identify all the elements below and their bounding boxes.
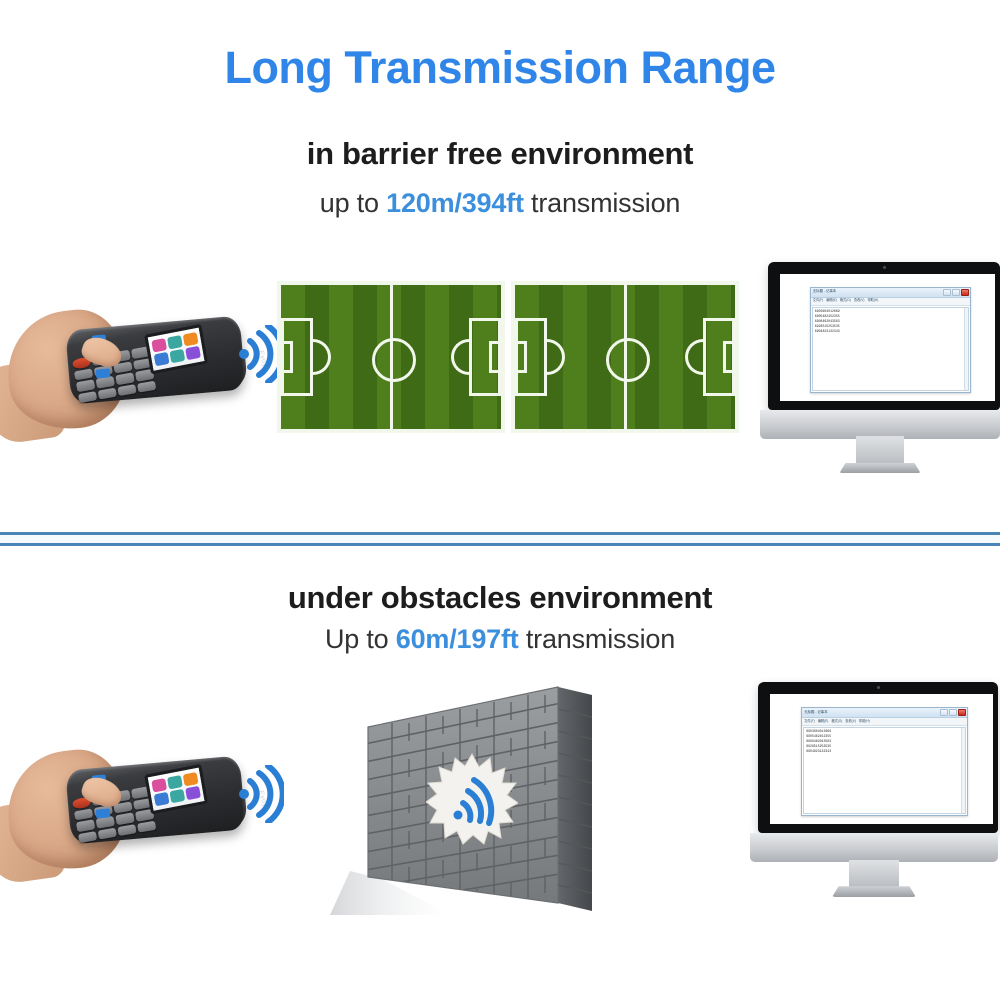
text-area[interactable]: 6903604012669 6905482452355 690846204356… [803, 727, 966, 813]
menu-item-view[interactable]: 查看(V) [845, 720, 856, 723]
app-icon-pink [151, 778, 167, 792]
monitor-foot [832, 886, 916, 897]
minimize-button[interactable] [940, 709, 948, 716]
goal-area-right [489, 341, 501, 373]
monitor-neck [856, 436, 904, 464]
goal-area-left [281, 341, 293, 373]
minimize-button[interactable] [943, 289, 951, 296]
divider-line-bottom [0, 543, 1000, 546]
desktop-monitor-top: 无标题 - 记事本 文件(F) 编辑(E) 格式(O) 查看(V) 帮助(H) [760, 262, 1000, 480]
menu-item-edit[interactable]: 编辑(E) [826, 299, 837, 302]
barrier-free-tagline: up to 120m/394ft transmission [0, 188, 1000, 219]
wifi-signal-icon-bottom [238, 765, 284, 828]
soccer-field-2 [511, 281, 739, 433]
goal-area-right [723, 341, 735, 373]
app-icon-teal [167, 775, 183, 789]
menu-item-help[interactable]: 帮助(H) [859, 720, 870, 723]
desktop-monitor-bottom: 无标题 - 记事本 文件(F) 编辑(E) 格式(O) 查看(V) 帮助(H) [750, 682, 998, 904]
app-icon-pink [151, 338, 167, 352]
signal-burst-icon [426, 753, 518, 845]
app-icon-blue [154, 792, 170, 806]
maximize-button[interactable] [949, 709, 957, 716]
scanned-code-line: 6903604012669 [815, 309, 967, 313]
penalty-arc-left [545, 339, 565, 375]
menu-bar[interactable]: 文件(F) 编辑(E) 格式(O) 查看(V) 帮助(H) [811, 298, 971, 306]
maximize-button[interactable] [952, 289, 960, 296]
menu-bar[interactable]: 文件(F) 编辑(E) 格式(O) 查看(V) 帮助(H) [802, 718, 967, 726]
menu-item-file[interactable]: 文件(F) [804, 720, 814, 723]
menu-item-edit[interactable]: 编辑(E) [818, 720, 829, 723]
infographic-page: Long Transmission Range in barrier free … [0, 0, 1000, 1000]
scanned-code-line: 6908462043563 [815, 319, 967, 323]
monitor-bezel: 无标题 - 记事本 文件(F) 编辑(E) 格式(O) 查看(V) 帮助(H) [758, 682, 998, 833]
obstacles-tagline-prefix: Up to [325, 624, 396, 654]
scanned-code-line: 6904823132343 [806, 749, 963, 753]
obstacles-subtitle: under obstacles environment [0, 580, 1000, 616]
obstacles-distance: 60m/197ft [396, 624, 519, 654]
scanned-code-line: 6904823132343 [815, 329, 967, 333]
center-circle [372, 338, 416, 382]
page-title: Long Transmission Range [0, 42, 1000, 94]
barrier-free-subtitle: in barrier free environment [0, 136, 1000, 172]
brick-wall [330, 665, 630, 930]
text-area[interactable]: 6903604012669 6905482452355 690846204356… [812, 307, 970, 392]
monitor-foot [839, 463, 921, 474]
app-icon-purple [185, 346, 201, 360]
side-tab-lower [96, 808, 111, 818]
scanned-code-line: 6928515253535 [815, 324, 967, 328]
scanned-code-line: 6905482452355 [806, 734, 963, 738]
center-circle [606, 338, 650, 382]
vertical-scrollbar[interactable] [964, 308, 968, 391]
menu-item-help[interactable]: 帮助(H) [867, 299, 878, 302]
window-title-bar[interactable]: 无标题 - 记事本 [811, 288, 971, 298]
barrier-free-tagline-prefix: up to [320, 188, 386, 218]
side-tab-lower [96, 368, 111, 378]
close-button[interactable] [958, 709, 966, 716]
penalty-arc-right [685, 339, 705, 375]
app-icon-orange [183, 332, 199, 346]
menu-item-file[interactable]: 文件(F) [813, 299, 823, 302]
app-icon-teal [167, 335, 183, 349]
monitor-neck [849, 860, 899, 889]
close-button[interactable] [961, 289, 969, 296]
soccer-fields [277, 281, 739, 433]
scanned-code-line: 6903604012669 [806, 729, 963, 733]
penalty-arc-left [311, 339, 331, 375]
divider-gap [0, 535, 1000, 543]
app-icon-purple [185, 786, 201, 800]
window-title: 无标题 - 记事本 [803, 711, 827, 714]
menu-item-format[interactable]: 格式(O) [831, 720, 842, 723]
obstacles-tagline: Up to 60m/197ft transmission [0, 624, 1000, 655]
webcam-icon [883, 266, 886, 269]
monitor-screen: 无标题 - 记事本 文件(F) 编辑(E) 格式(O) 查看(V) 帮助(H) [780, 274, 996, 402]
window-controls[interactable] [940, 709, 966, 716]
webcam-icon [877, 686, 880, 689]
obstacles-tagline-suffix: transmission [519, 624, 675, 654]
section-divider [0, 532, 1000, 546]
scanned-code-line: 6908462043563 [806, 739, 963, 743]
app-icon-teal-2 [169, 789, 185, 803]
monitor-chin [760, 410, 1000, 438]
soccer-field-1 [277, 281, 505, 433]
barrier-free-tagline-suffix: transmission [524, 188, 680, 218]
barrier-free-distance: 120m/394ft [386, 188, 524, 218]
monitor-bezel: 无标题 - 记事本 文件(F) 编辑(E) 格式(O) 查看(V) 帮助(H) [768, 262, 1000, 410]
scanned-code-line: 6928515253535 [806, 744, 963, 748]
app-icon-teal-2 [169, 349, 185, 363]
monitor-screen: 无标题 - 记事本 文件(F) 编辑(E) 格式(O) 查看(V) 帮助(H) [770, 694, 993, 824]
vertical-scrollbar[interactable] [961, 728, 965, 812]
monitor-chin [750, 833, 998, 862]
window-title-bar[interactable]: 无标题 - 记事本 [802, 708, 967, 718]
notepad-window[interactable]: 无标题 - 记事本 文件(F) 编辑(E) 格式(O) 查看(V) 帮助(H) [810, 287, 972, 394]
notepad-window[interactable]: 无标题 - 记事本 文件(F) 编辑(E) 格式(O) 查看(V) 帮助(H) [801, 707, 968, 815]
handheld-scanner-top: Eyoyo [8, 305, 258, 435]
app-icon-orange [183, 772, 199, 786]
menu-item-view[interactable]: 查看(V) [854, 299, 865, 302]
handheld-scanner-bottom: Eyoyo [8, 745, 258, 875]
penalty-arc-right [451, 339, 471, 375]
scanned-code-line: 6905482452355 [815, 314, 967, 318]
device-screen [144, 324, 208, 374]
device-screen [144, 764, 208, 814]
window-title: 无标题 - 记事本 [812, 290, 836, 293]
goal-area-left [515, 341, 527, 373]
window-controls[interactable] [943, 289, 969, 296]
app-icon-blue [154, 352, 170, 366]
menu-item-format[interactable]: 格式(O) [840, 299, 851, 302]
